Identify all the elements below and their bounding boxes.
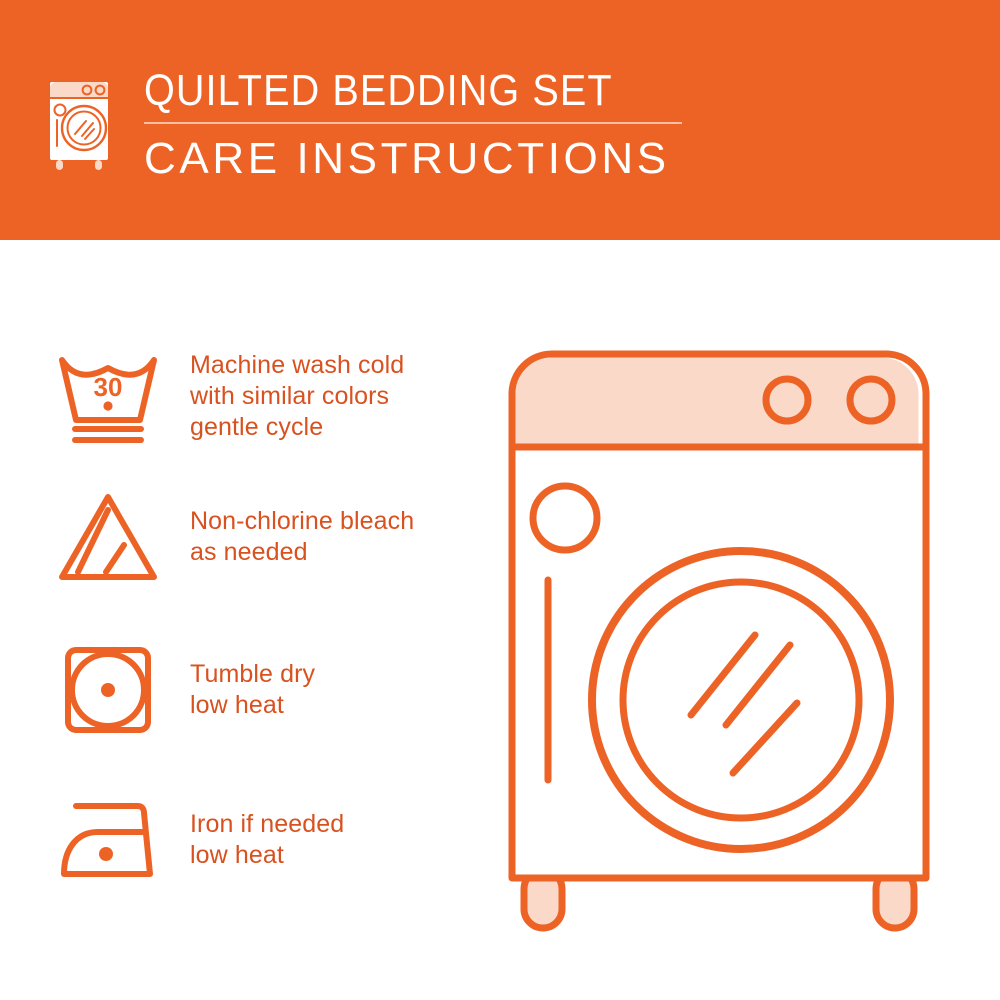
care-row-tumble-dry: Tumble dry low heat <box>54 638 474 742</box>
care-text-machine-wash: Machine wash cold with similar colors ge… <box>190 350 404 443</box>
header-content: QUILTED BEDDING SET CARE INSTRUCTIONS <box>44 66 682 184</box>
washing-machine-illustration <box>488 330 984 950</box>
care-text-iron: Iron if needed low heat <box>190 809 344 871</box>
care-row-iron: Iron if needed low heat <box>54 788 474 892</box>
page-title: QUILTED BEDDING SET <box>144 66 628 116</box>
header-titles: QUILTED BEDDING SET CARE INSTRUCTIONS <box>144 66 682 184</box>
care-row-bleach: Non-chlorine bleach as needed <box>54 485 474 589</box>
care-text-tumble-dry: Tumble dry low heat <box>190 659 315 721</box>
wash-temperature-label: 30 <box>94 372 123 402</box>
care-instructions-page: QUILTED BEDDING SET CARE INSTRUCTIONS 30 <box>0 0 1000 1000</box>
title-divider <box>144 122 682 124</box>
care-row-machine-wash: 30 Machine wash cold with similar colors… <box>54 344 474 448</box>
tumble-dry-low-heat-icon <box>54 638 162 742</box>
header-banner: QUILTED BEDDING SET CARE INSTRUCTIONS <box>0 0 1000 240</box>
iron-low-heat-icon <box>54 788 162 892</box>
page-subtitle: CARE INSTRUCTIONS <box>144 134 682 184</box>
care-instruction-list: 30 Machine wash cold with similar colors… <box>0 240 470 1000</box>
bleach-triangle-non-chlorine-icon <box>54 485 162 589</box>
care-text-bleach: Non-chlorine bleach as needed <box>190 506 414 568</box>
control-panel <box>516 358 919 448</box>
wash-tub-30-gentle-icon: 30 <box>54 344 162 448</box>
washing-machine-icon <box>44 66 120 174</box>
